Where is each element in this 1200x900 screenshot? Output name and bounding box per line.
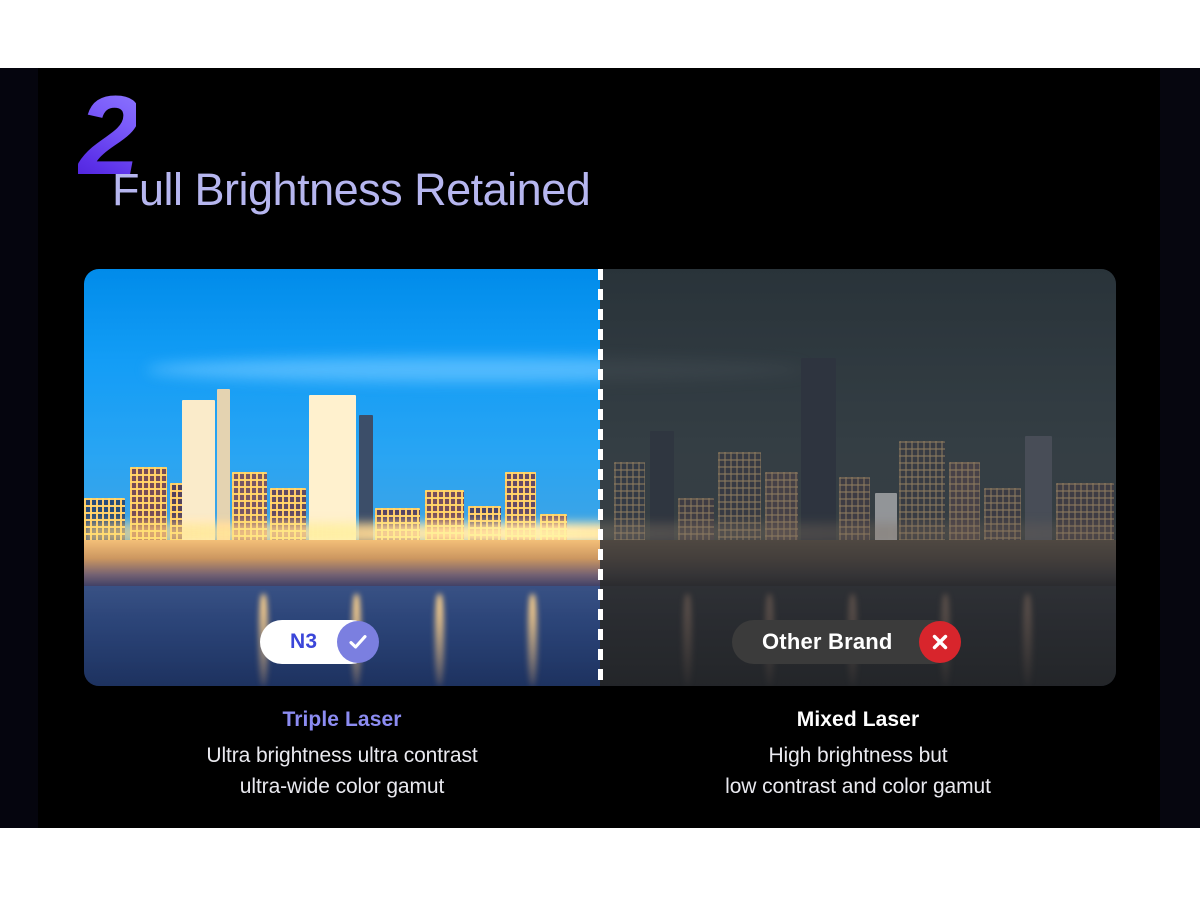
waterfront-strip: [600, 540, 1116, 586]
slide-panel: 2 Full Brightness Retained: [0, 68, 1200, 828]
caption-left-line1: Ultra brightness ultra contrast: [84, 740, 600, 772]
caption-right: Mixed Laser High brightness but low cont…: [600, 704, 1116, 803]
caption-right-line1: High brightness but: [600, 740, 1116, 772]
page-title: Full Brightness Retained: [112, 164, 590, 216]
panel-left-edge-tint: [0, 68, 38, 828]
panel-right-edge-tint: [1160, 68, 1200, 828]
caption-row: Triple Laser Ultra brightness ultra cont…: [84, 704, 1116, 803]
caption-right-title: Mixed Laser: [600, 704, 1116, 737]
caption-left-body: Ultra brightness ultra contrast ultra-wi…: [84, 740, 600, 804]
caption-right-line2: low contrast and color gamut: [600, 771, 1116, 803]
caption-right-body: High brightness but low contrast and col…: [600, 740, 1116, 804]
badge-n3[interactable]: N3: [260, 620, 373, 664]
waterfront-strip: [84, 540, 600, 586]
caption-left: Triple Laser Ultra brightness ultra cont…: [84, 704, 600, 803]
comparison-divider: [598, 269, 603, 686]
headline-block: 2 Full Brightness Retained: [78, 86, 938, 246]
comparison-image: N3 Other Brand: [84, 269, 1116, 686]
caption-left-line2: ultra-wide color gamut: [84, 771, 600, 803]
check-icon: [337, 621, 379, 663]
badge-other-brand[interactable]: Other Brand: [732, 620, 955, 664]
slide-root: 2 Full Brightness Retained: [0, 0, 1200, 900]
close-icon: [919, 621, 961, 663]
caption-left-title: Triple Laser: [84, 704, 600, 737]
